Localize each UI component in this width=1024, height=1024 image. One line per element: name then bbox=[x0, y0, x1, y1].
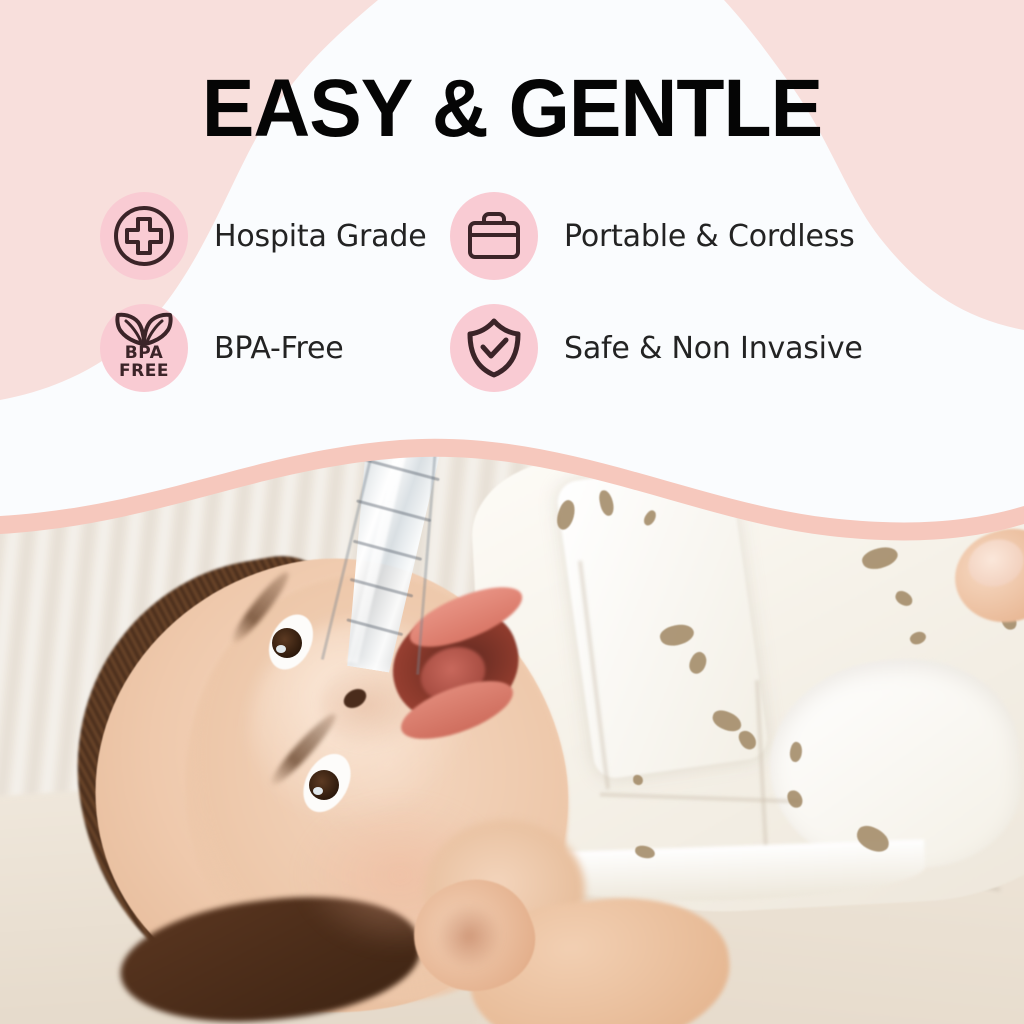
baby-iris bbox=[272, 628, 302, 658]
feature-item-safe-non-invasive[interactable]: Safe & Non Invasive bbox=[438, 304, 958, 392]
feature-label: BPA-Free bbox=[214, 331, 344, 366]
product-feature-poster: EASY & GENTLE Hospita Grade bbox=[0, 0, 1024, 1024]
eye-highlight bbox=[276, 645, 286, 653]
panel-content: EASY & GENTLE Hospita Grade bbox=[0, 0, 1024, 470]
feature-label: Portable & Cordless bbox=[564, 219, 855, 254]
feature-label: Safe & Non Invasive bbox=[564, 331, 863, 366]
feature-row: BPA FREE BPA-Free Safe & Non Invasive bbox=[0, 304, 1024, 392]
bpa-line-2: FREE bbox=[119, 361, 169, 381]
feature-row: Hospita Grade Portable & Cordless bbox=[0, 192, 1024, 280]
feature-list: Hospita Grade Portable & Cordless bbox=[0, 192, 1024, 416]
feature-item-portable-cordless[interactable]: Portable & Cordless bbox=[438, 192, 958, 280]
feature-item-bpa-free[interactable]: BPA FREE BPA-Free bbox=[0, 304, 438, 392]
bpa-badge-text: BPA FREE bbox=[100, 344, 188, 380]
page-title: EASY & GENTLE bbox=[20, 62, 1003, 156]
bpa-free-leaf-icon: BPA FREE bbox=[100, 304, 188, 392]
shield-check-icon bbox=[450, 304, 538, 392]
ear-inner bbox=[438, 905, 500, 967]
feature-item-hospital-grade[interactable]: Hospita Grade bbox=[0, 192, 438, 280]
eye-highlight bbox=[313, 787, 323, 795]
medical-bag-icon bbox=[450, 192, 538, 280]
bpa-line-1: BPA bbox=[125, 343, 164, 363]
baby-iris bbox=[309, 770, 339, 800]
feature-label: Hospita Grade bbox=[214, 219, 426, 254]
medical-cross-icon bbox=[100, 192, 188, 280]
